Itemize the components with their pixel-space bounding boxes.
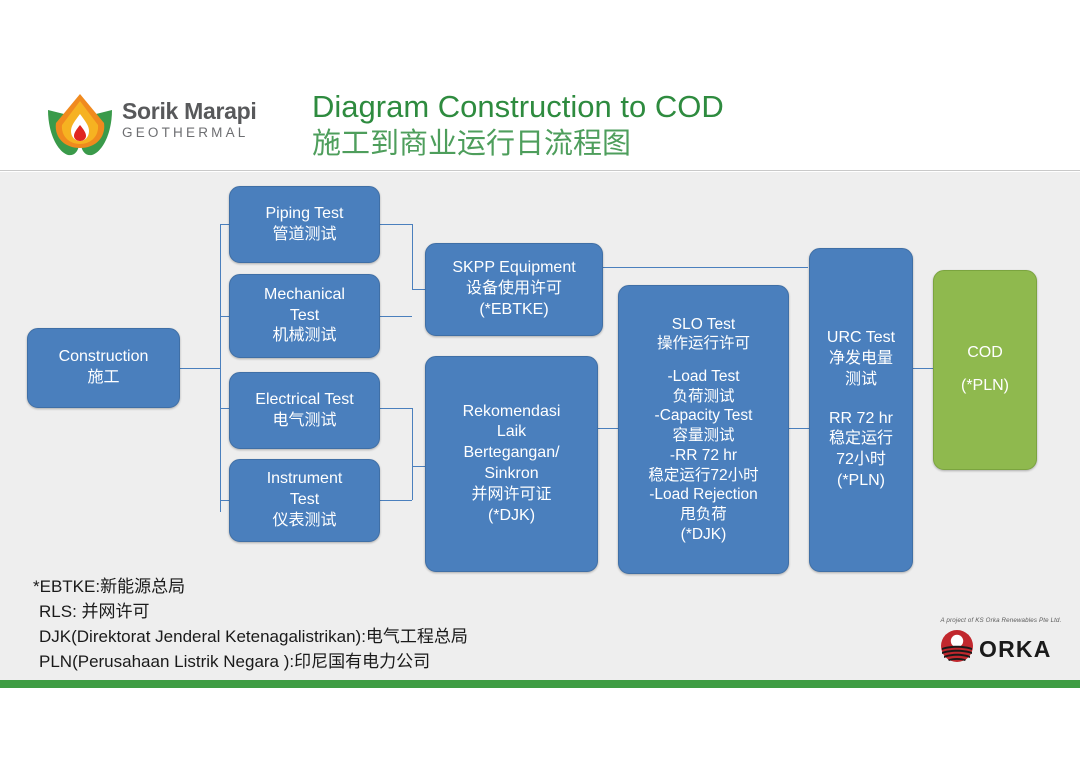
- orka-logo-row: ORKA: [940, 629, 1052, 668]
- sorik-marapi-wordmark: Sorik Marapi GEOTHERMAL: [122, 98, 272, 142]
- electrical-test-label: Electrical Test 电气测试: [230, 390, 379, 432]
- orka-logo: A project of KS Orka Renewables Pte Ltd.…: [938, 616, 1070, 672]
- urc-test[interactable]: URC Test 净发电量 测试 RR 72 hr 稳定运行 72小时 (*PL…: [809, 248, 913, 572]
- electrical-test[interactable]: Electrical Test 电气测试: [229, 372, 380, 449]
- edge-construction-bus: [180, 368, 220, 369]
- slo-spacer: [625, 354, 782, 367]
- sorik-marapi-flame-logo: [44, 92, 116, 158]
- legend-abbreviations: *EBTKE:新能源总局 RLS: 并网许可 DJK(Direktorat Je…: [33, 574, 653, 674]
- footer-accent-bar: [0, 680, 1080, 688]
- skpp-equipment[interactable]: SKPP Equipment 设备使用许可 (*EBTKE): [425, 243, 603, 336]
- urc-spacer: [816, 391, 906, 409]
- mechanical-test[interactable]: Mechanical Test 机械测试: [229, 274, 380, 358]
- page-title-chinese: 施工到商业运行日流程图: [312, 126, 1032, 162]
- page-title-english: Diagram Construction to COD: [312, 88, 1032, 126]
- urc-test-label: URC Test 净发电量 测试 RR 72 hr 稳定运行 72小时 (*PL…: [810, 328, 912, 492]
- rekomendasi-label: Rekomendasi Laik Bertegangan/ Sinkron 并网…: [426, 402, 597, 527]
- construction[interactable]: Construction 施工: [27, 328, 180, 408]
- logo-company-name: Sorik Marapi: [122, 98, 272, 124]
- edge-bus-rekomendasi-in: [412, 466, 426, 467]
- legend-line-ebtke: *EBTKE:新能源总局: [33, 574, 653, 599]
- edge-bus-skpp-in: [412, 289, 426, 290]
- legend-line-pln: PLN(Perusahaan Listrik Negara ):印尼国有电力公司: [33, 649, 653, 674]
- edge-mechanical-out: [380, 316, 412, 317]
- edge-rekomendasi-slo: [598, 428, 618, 429]
- edge-piping-out: [380, 224, 412, 225]
- instrument-test[interactable]: Instrument Test 仪表测试: [229, 459, 380, 542]
- mechanical-test-label: Mechanical Test 机械测试: [230, 285, 379, 347]
- orka-sun-waves-logo: [940, 629, 974, 668]
- cod[interactable]: COD (*PLN): [933, 270, 1037, 470]
- slide-header: Sorik Marapi GEOTHERMAL Diagram Construc…: [0, 0, 1080, 172]
- edge-electrical-out: [380, 408, 412, 409]
- skpp-equipment-label: SKPP Equipment 设备使用许可 (*EBTKE): [426, 258, 602, 320]
- edge-slo-urc: [789, 428, 809, 429]
- construction-label: Construction 施工: [28, 347, 179, 389]
- slo-test-label: SLO Test 操作运行许可 -Load Test 负荷测试 -Capacit…: [619, 315, 788, 544]
- edge-urc-cod: [913, 368, 933, 369]
- edge-bus-rekomendasi: [412, 408, 413, 500]
- piping-test[interactable]: Piping Test 管道测试: [229, 186, 380, 263]
- header-divider: [0, 170, 1080, 171]
- legend-line-djk: DJK(Direktorat Jenderal Ketenagalistrika…: [33, 624, 653, 649]
- orka-tagline: A project of KS Orka Renewables Pte Ltd.: [938, 616, 1064, 625]
- edge-instrument-out: [380, 500, 412, 501]
- slo-test[interactable]: SLO Test 操作运行许可 -Load Test 负荷测试 -Capacit…: [618, 285, 789, 574]
- rekomendasi-laik-bertegangan[interactable]: Rekomendasi Laik Bertegangan/ Sinkron 并网…: [425, 356, 598, 572]
- cod-spacer: [940, 364, 1030, 376]
- legend-line-rls: RLS: 并网许可: [33, 599, 653, 624]
- edge-bus-skpp: [412, 224, 413, 289]
- piping-test-label: Piping Test 管道测试: [230, 204, 379, 246]
- page-title: Diagram Construction to COD 施工到商业运行日流程图: [312, 88, 1032, 162]
- edge-skpp-urc: [603, 267, 808, 268]
- logo-company-subtitle: GEOTHERMAL: [122, 124, 272, 142]
- edge-left-bus: [220, 224, 221, 512]
- sorik-marapi-logo: Sorik Marapi GEOTHERMAL: [44, 92, 269, 164]
- orka-wordmark: ORKA: [979, 637, 1052, 661]
- instrument-test-label: Instrument Test 仪表测试: [230, 469, 379, 531]
- cod-label: COD (*PLN): [934, 343, 1036, 397]
